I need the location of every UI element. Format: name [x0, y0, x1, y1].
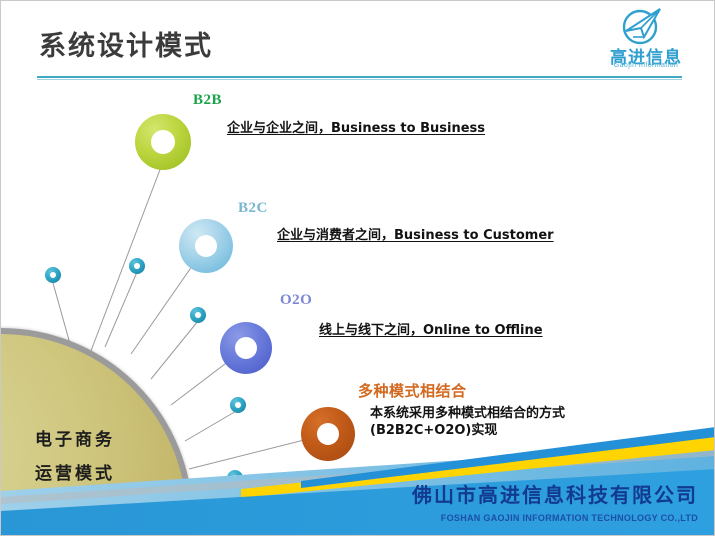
ring-b2b: [135, 114, 191, 170]
mode-title-o2o: O2O: [280, 292, 312, 309]
ring-b2b-hole: [151, 130, 175, 154]
node-dot-1: [45, 267, 61, 283]
node-dot-3: [190, 307, 206, 323]
footer-company-cn: 佛山市高进信息科技有限公司: [412, 479, 698, 508]
ring-b2c: [179, 219, 233, 273]
mode-title-b2b: B2B: [193, 92, 222, 109]
presentation-slide: 系统设计模式 高进信息 Gaojin Information: [0, 0, 715, 536]
ring-o2o: [220, 322, 272, 374]
mode-description-b2c: 企业与消费者之间，Business to Customer: [277, 224, 554, 243]
mode-title-mixed: 多种模式相结合: [358, 380, 467, 401]
node-dot-2-hole: [134, 263, 140, 269]
node-dot-1-hole: [50, 272, 56, 278]
node-dot-4: [230, 397, 246, 413]
node-dot-2: [129, 258, 145, 274]
ring-o2o-hole: [235, 337, 257, 359]
mode-description-o2o: 线上与线下之间，Online to Offline: [319, 319, 543, 338]
node-dot-4-hole: [235, 402, 241, 408]
hub-label-line1: 电子商务: [35, 425, 115, 450]
mode-title-b2c: B2C: [238, 200, 268, 217]
mode-description-mixed-line1: 本系统采用多种模式相结合的方式: [370, 405, 565, 422]
hub-label-line2: 运营模式: [35, 459, 115, 484]
mode-description-b2b: 企业与企业之间，Business to Business: [227, 117, 485, 136]
footer-company-en: FOSHAN GAOJIN INFORMATION TECHNOLOGY CO.…: [441, 513, 698, 523]
node-dot-3-hole: [195, 312, 201, 318]
ring-b2c-hole: [195, 235, 217, 257]
